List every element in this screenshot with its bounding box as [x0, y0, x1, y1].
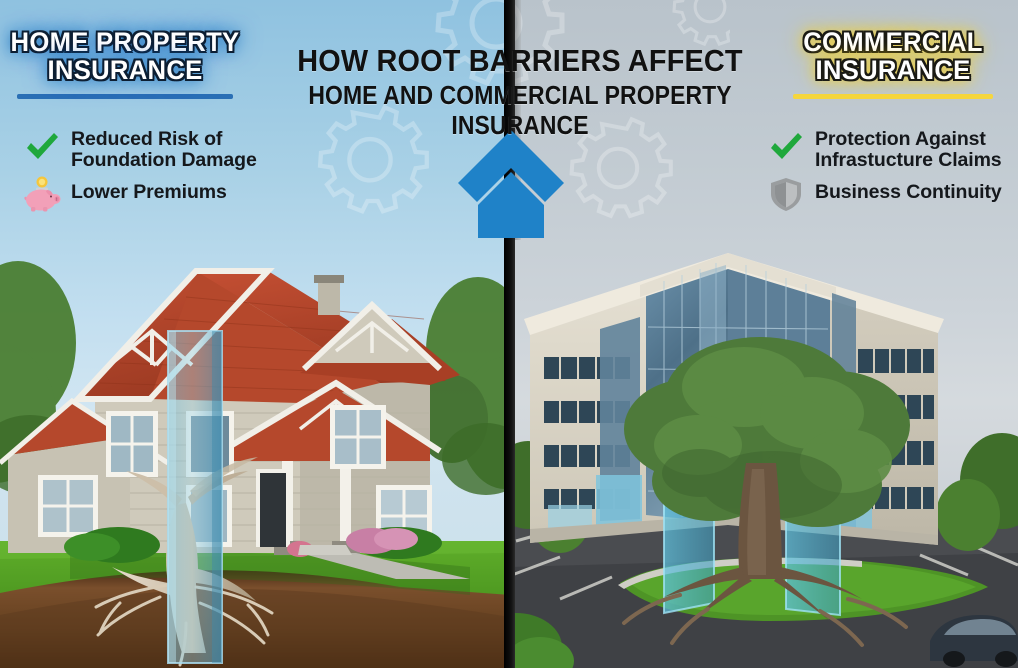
left-benefit-2-label: Lower Premiums: [71, 176, 227, 203]
right-heading-line-2: INSURANCE: [774, 56, 1012, 84]
left-panel-heading: HOME PROPERTY INSURANCE: [0, 28, 250, 99]
title-line-2: HOME AND COMMERCIAL PROPERTY INSURANCE: [273, 81, 768, 141]
list-item: Business Continuity: [766, 176, 1016, 212]
right-benefit-2-label: Business Continuity: [815, 176, 1002, 203]
list-item: Reduced Risk ofFoundation Damage: [22, 128, 262, 172]
page-title: HOW ROOT BARRIERS AFFECT HOME AND COMMER…: [245, 45, 795, 141]
left-heading-line-2: INSURANCE: [6, 56, 244, 84]
up-arrow-icon: [456, 128, 566, 240]
right-panel-heading: COMMERCIAL INSURANCE: [768, 28, 1018, 99]
list-item: Protection AgainstInfrastucture Claims: [766, 128, 1016, 172]
green-check-icon: [22, 128, 62, 168]
infographic-root: HOW ROOT BARRIERS AFFECT HOME AND COMMER…: [0, 0, 1018, 668]
right-heading-line-1: COMMERCIAL: [774, 28, 1012, 56]
gray-shield-icon: [766, 176, 806, 212]
title-line-1: HOW ROOT BARRIERS AFFECT: [264, 45, 776, 77]
piggy-bank-icon: [22, 176, 62, 212]
right-heading-underline: [793, 94, 993, 99]
right-benefit-1-label: Protection AgainstInfrastucture Claims: [815, 128, 1002, 172]
left-heading-underline: [17, 94, 233, 99]
left-heading-line-1: HOME PROPERTY: [6, 28, 244, 56]
list-item: Lower Premiums: [22, 176, 262, 212]
left-benefits-list: Reduced Risk ofFoundation Damage: [22, 128, 262, 216]
left-benefit-1-label: Reduced Risk ofFoundation Damage: [71, 128, 257, 172]
green-check-icon: [766, 128, 806, 168]
right-benefits-list: Protection AgainstInfrastucture Claims B…: [766, 128, 1016, 216]
